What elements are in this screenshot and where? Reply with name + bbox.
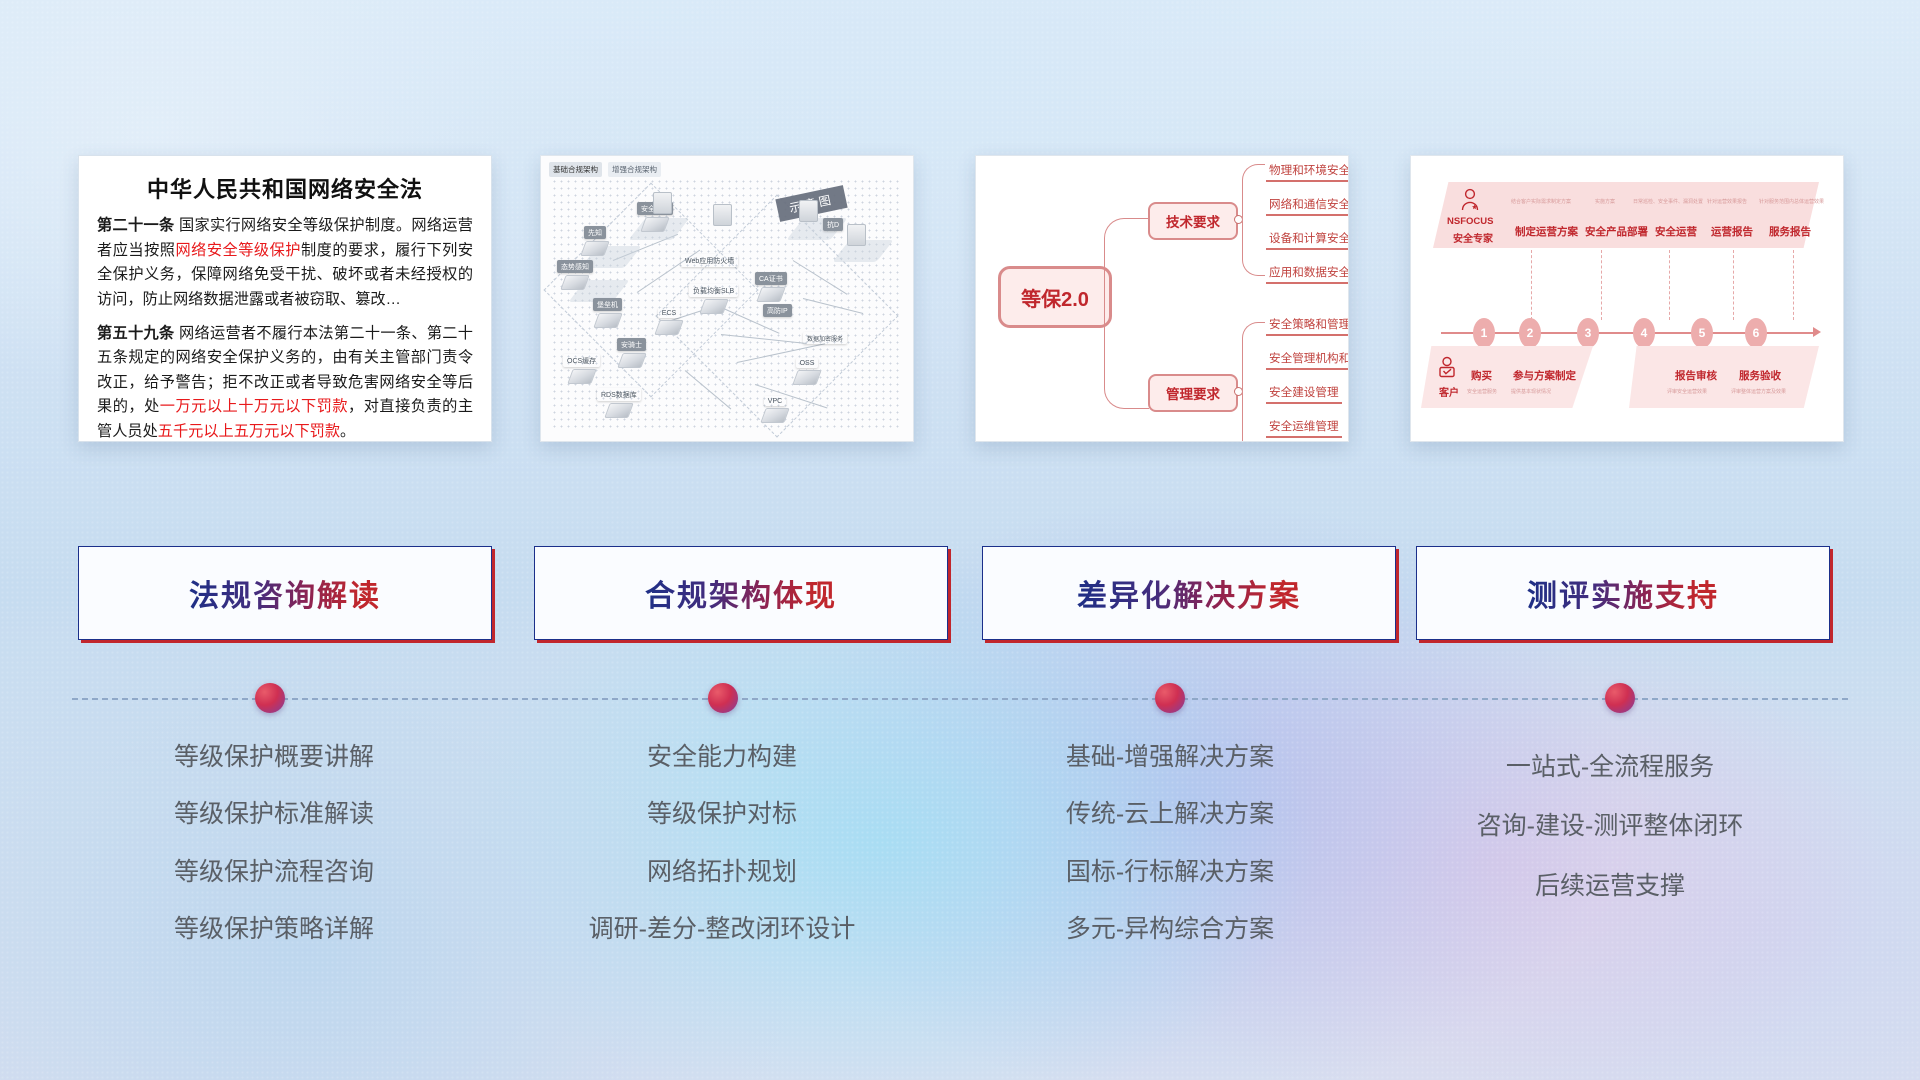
architecture-node: VPC [763,396,787,423]
nsfocus-bottom-step: 参与方案制定 [1513,368,1576,383]
node-label-ca-certificate: CA证书 [755,272,787,285]
nsfocus-expert-line1: NSFOCUS [1447,216,1493,227]
title-box-regulation-consulting[interactable]: 法规咨询解读 [78,546,492,640]
nsfocus-step-number: 3 [1577,318,1599,348]
title-box-label: 合规架构体现 [645,571,837,615]
nsfocus-dash-drop [1669,250,1670,320]
node-label-anqishi: 安骑士 [617,338,646,351]
node-label-oss: OSS [796,358,819,368]
nsfocus-top-sub: 针对服务范围内总体运营效果 [1759,198,1824,205]
nsfocus-top-sub: 针对运营效果报告 [1707,198,1747,205]
architecture-node: CA证书 [755,272,787,302]
list-item: 后续运营支撑 [1400,871,1820,902]
title-box-label: 测评实施支持 [1527,571,1719,615]
list-item: 一站式-全流程服务 [1400,752,1820,783]
node-label-xianzhi: 先知 [584,226,606,239]
architecture-server-icon [653,192,672,214]
nsfocus-customer-label: 客户 [1439,384,1459,399]
list-item: 等级保护流程咨询 [64,857,484,888]
timeline-dot-3[interactable] [1155,683,1185,713]
node-label-anti-d: 抗D [823,218,843,231]
nsfocus-dash-drop [1733,250,1734,320]
nsfocus-top-step: 安全产品部署 [1585,224,1648,239]
nsfocus-step-number: 1 [1473,318,1495,348]
law-title: 中华人民共和国网络安全法 [79,172,491,204]
nsfocus-bottom-right-banner [1629,346,1819,408]
list-item: 调研-差分-整改闭环设计 [512,914,932,945]
list-item: 咨询-建设-测评整体闭环 [1400,811,1820,842]
timeline-dot-1[interactable] [255,683,285,713]
node-label-load-balancer-slb: 负载均衡SLB [689,284,738,297]
node-label-anti-ddos-ip: 高防IP [763,304,792,317]
mindmap-leaf: 网络和通信安全 [1266,196,1348,216]
list-item: 基础-增强解决方案 [960,742,1380,773]
card-nsfocus-service-flow: NSFOCUS 安全专家 结合客户实际需求制定方案 制定运营方案 实施方案 安全… [1410,155,1844,442]
list-item: 等级保护概要讲解 [64,742,484,773]
mindmap-leaf: 应用和数据安全 [1266,264,1348,284]
title-box-assessment-support[interactable]: 测评实施支持 [1416,546,1830,640]
security-expert-icon [1459,188,1481,212]
timeline-dot-2[interactable] [708,683,738,713]
article-59-highlight-1: 一万元以上十万元以下罚款 [160,398,348,415]
nsfocus-step-number: 2 [1519,318,1541,348]
law-article-59: 第五十九条 网络运营者不履行本法第二十一条、第二十五条规定的网络安全保护义务的，… [97,322,473,442]
nsfocus-top-step: 运营报告 [1711,224,1753,239]
card-cybersecurity-law: 中华人民共和国网络安全法 第二十一条 国家实行网络安全等级保护制度。网络运营者应… [78,155,492,442]
article-59-text-3: 。 [340,423,355,440]
architecture-node: 态势感知 [557,260,593,290]
tab-basic-architecture[interactable]: 基础合规架构 [549,162,602,177]
nsfocus-step-number: 6 [1745,318,1767,348]
list-item: 等级保护策略详解 [64,914,484,945]
nsfocus-bottom-sub: 提供基本现状情况 [1511,388,1551,395]
title-box-compliance-architecture[interactable]: 合规架构体现 [534,546,948,640]
mindmap-leaf: 设备和计算安全 [1266,230,1348,250]
list-item: 多元-异构综合方案 [960,914,1380,945]
tab-enhanced-architecture[interactable]: 增强合规架构 [608,162,661,177]
title-box-label: 法规咨询解读 [189,571,381,615]
nsfocus-bottom-step: 报告审核 [1675,368,1717,383]
nsfocus-bottom-sub: 评审整体运营方案及效果 [1731,388,1786,395]
nsfocus-axis-arrow-icon [1813,327,1821,337]
list-item: 国标-行标解决方案 [960,857,1380,888]
mindmap-connector-lower [1104,296,1149,409]
card-compliance-architecture: 基础合规架构 增强合规架构 示意图 [540,155,914,442]
architecture-node: 高防IP [763,304,792,317]
nsfocus-step-number: 5 [1691,318,1713,348]
customer-icon [1437,356,1457,380]
feature-column-compliance-architecture: 安全能力构建 等级保护对标 网络拓扑规划 调研-差分-整改闭环设计 [512,742,932,971]
list-item: 等级保护对标 [512,799,932,830]
feature-column-differentiated-solution: 基础-增强解决方案 传统-云上解决方案 国标-行标解决方案 多元-异构综合方案 [960,742,1380,971]
node-label-web-application-firewall: Web应用防火墙 [681,254,738,267]
architecture-node: Web应用防火墙 [681,254,738,267]
architecture-node: 负载均衡SLB [689,284,738,314]
architecture-node: 数据加密服务 [803,332,847,344]
timeline-dashed-line [72,698,1848,700]
list-item: 安全能力构建 [512,742,932,773]
feature-column-assessment-support: 一站式-全流程服务 咨询-建设-测评整体闭环 后续运营支撑 [1400,752,1820,930]
nsfocus-bottom-step: 购买 [1471,368,1492,383]
list-item: 网络拓扑规划 [512,857,932,888]
nsfocus-top-step: 安全运营 [1655,224,1697,239]
article-21-label: 第二十一条 [97,217,174,234]
architecture-server-icon [713,204,732,226]
node-label-ocs-cache: OCS缓存 [563,354,600,367]
mindmap-branch-management: 管理要求 [1148,374,1238,412]
card-dengbao-mindmap: 等保2.0 技术要求 物理和环境安全 网络和通信安全 设备和计算安全 应用和数据… [975,155,1349,442]
mindmap-leaf: 安全运维管理 [1266,418,1342,438]
node-label-situational-awareness: 态势感知 [557,260,593,273]
nsfocus-top-sub: 结合客户实际需求制定方案 [1511,198,1571,205]
architecture-node: 安骑士 [617,338,646,368]
list-item: 等级保护标准解读 [64,799,484,830]
article-21-highlight: 网络安全等级保护 [175,242,301,259]
node-label-ecs: ECS [658,308,680,318]
node-label-vpc: VPC [764,396,786,406]
nsfocus-bottom-step: 服务验收 [1739,368,1781,383]
nsfocus-bottom-sub: 评审安全运营效果 [1667,388,1707,395]
architecture-node: 堡垒机 [593,298,622,328]
architecture-node: RDS数据库 [597,388,641,418]
architecture-server-icon [799,200,818,222]
mindmap-branch-spine [1242,164,1265,276]
nsfocus-dash-drop [1601,250,1602,320]
nsfocus-top-sub: 实施方案 [1595,198,1615,205]
title-box-label: 差异化解决方案 [1077,571,1301,615]
nsfocus-top-step: 服务报告 [1769,224,1811,239]
timeline-dot-4[interactable] [1605,683,1635,713]
architecture-node: OCS缓存 [563,354,600,384]
mindmap-root: 等保2.0 [998,266,1112,328]
mindmap-connector-upper [1104,218,1149,297]
mindmap-leaf: 安全建设管理 [1266,384,1342,404]
mindmap-leaf: 安全策略和管理制度 [1266,316,1348,336]
article-59-highlight-2: 五千元以上五万元以下罚款 [158,423,340,440]
nsfocus-top-step: 制定运营方案 [1515,224,1578,239]
article-59-label: 第五十九条 [97,325,174,342]
architecture-tabs[interactable]: 基础合规架构 增强合规架构 [549,162,661,177]
architecture-node: ECS [657,308,681,335]
mindmap-branch-spine [1242,322,1265,441]
mindmap-leaf: 物理和环境安全 [1266,162,1348,182]
nsfocus-expert-line2: 安全专家 [1453,230,1493,245]
architecture-node: OSS [795,358,819,385]
law-article-21: 第二十一条 国家实行网络安全等级保护制度。网络运营者应当按照网络安全等级保护制度… [97,214,473,313]
nsfocus-top-sub: 日常巡检、安全事件、漏洞处置 [1633,198,1703,205]
title-box-differentiated-solution[interactable]: 差异化解决方案 [982,546,1396,640]
node-label-bastion-host: 堡垒机 [593,298,622,311]
architecture-server-icon [847,224,866,246]
feature-column-regulation-consulting: 等级保护概要讲解 等级保护标准解读 等级保护流程咨询 等级保护策略详解 [64,742,484,971]
nsfocus-bottom-sub: 安全运营服务 [1467,388,1497,395]
nsfocus-dash-drop [1793,250,1794,320]
mindmap-branch-technical: 技术要求 [1148,202,1238,240]
node-label-rds-database: RDS数据库 [597,388,641,401]
architecture-node: 先知 [583,226,607,256]
nsfocus-step-number: 4 [1633,318,1655,348]
node-label-encryption-service: 数据加密服务 [803,332,847,344]
nsfocus-dash-drop [1531,250,1532,320]
architecture-node: 抗D [823,218,843,231]
list-item: 传统-云上解决方案 [960,799,1380,830]
mindmap-leaf: 安全管理机构和人员 [1266,350,1348,370]
